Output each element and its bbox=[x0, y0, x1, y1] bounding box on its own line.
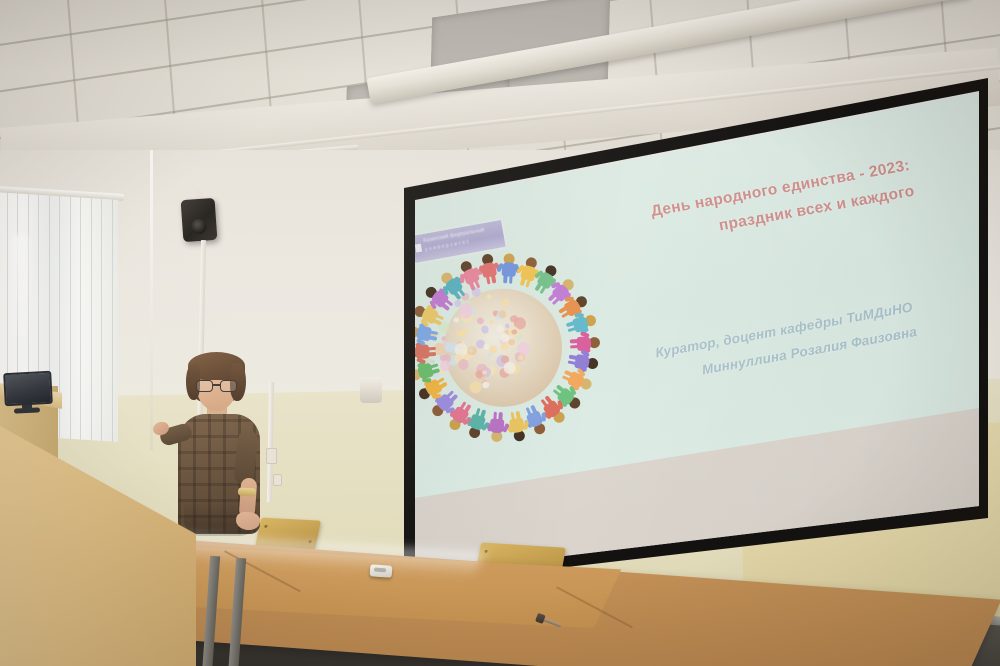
screen-casing-end-cap bbox=[360, 377, 382, 403]
lens-left bbox=[196, 380, 213, 392]
blind-slat bbox=[80, 197, 81, 439]
wall-speaker bbox=[181, 198, 218, 242]
child-leg bbox=[481, 410, 487, 420]
logo-mark-icon bbox=[415, 244, 422, 253]
children-ring-illustration bbox=[398, 226, 615, 470]
slide-subtitle: Куратор, доцент кафедры ТиМДиНО Миннулли… bbox=[546, 294, 919, 409]
child-arm bbox=[422, 378, 431, 382]
presentation-remote[interactable] bbox=[370, 564, 393, 578]
child-figure bbox=[487, 412, 508, 443]
wristwatch bbox=[238, 487, 257, 496]
eyeglasses-icon bbox=[196, 380, 238, 393]
child-leg bbox=[570, 344, 579, 348]
glasses-bridge bbox=[213, 384, 220, 386]
child-leg bbox=[427, 353, 436, 357]
child-arm bbox=[460, 274, 464, 283]
slide-title: День народного единства - 2023: праздник… bbox=[563, 153, 917, 266]
child-leg bbox=[438, 382, 448, 390]
pull-down-projection-screen[interactable]: Казанский федеральный университет День н… bbox=[368, 78, 993, 588]
child-leg bbox=[432, 319, 442, 326]
lens-right bbox=[220, 380, 237, 392]
child-leg bbox=[570, 339, 579, 343]
flower-graphic bbox=[468, 347, 473, 352]
blind-slat bbox=[101, 199, 102, 441]
child-leg bbox=[499, 412, 503, 421]
blind-slat bbox=[91, 198, 92, 440]
window-light-glow bbox=[12, 234, 28, 350]
blind-slat bbox=[70, 197, 71, 439]
lecture-hall-scene: Казанский федеральный университет День н… bbox=[0, 0, 1000, 666]
child-arm bbox=[523, 420, 528, 430]
desktop-monitor[interactable] bbox=[3, 371, 53, 406]
child-leg bbox=[509, 274, 513, 283]
blind-slat bbox=[112, 199, 113, 441]
child-leg bbox=[503, 274, 507, 283]
child-arm bbox=[542, 413, 546, 422]
